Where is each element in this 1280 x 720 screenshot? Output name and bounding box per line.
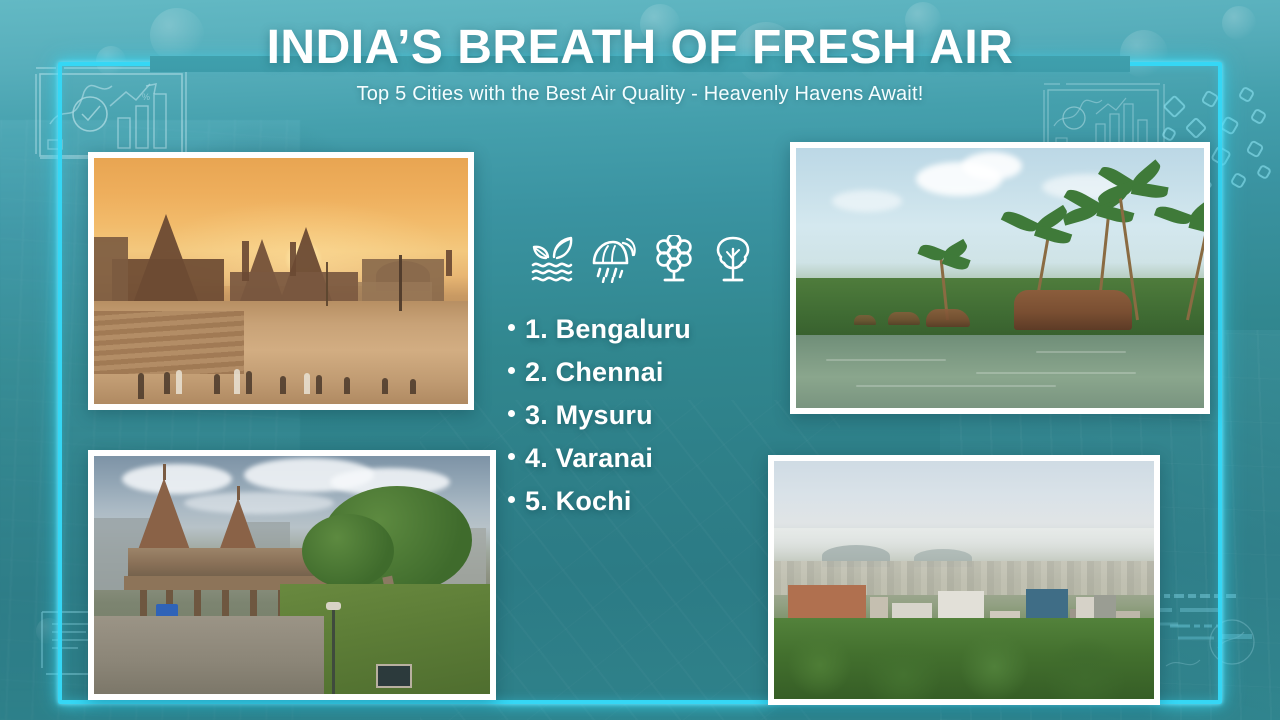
photo-image	[774, 461, 1154, 699]
city-list: 1. Bengaluru 2. Chennai 3. Mysuru 4. Var…	[508, 314, 778, 517]
page-subtitle: Top 5 Cities with the Best Air Quality -…	[0, 83, 1280, 106]
bullet-icon	[508, 410, 515, 417]
tree-icon	[712, 235, 754, 288]
hud-panel-bottomright	[1160, 608, 1278, 682]
photo-varanasi-ghats	[88, 152, 474, 410]
neon-frame-header-gap	[150, 56, 1130, 72]
bokeh-circle	[1120, 30, 1168, 78]
photo-frame	[94, 456, 490, 694]
deco-diamond	[1162, 94, 1186, 118]
photo-city-skyline	[768, 455, 1160, 705]
eco-icon-row	[508, 232, 778, 288]
bokeh-circle	[905, 2, 941, 38]
bokeh-circle	[640, 4, 680, 44]
bullet-icon	[508, 453, 515, 460]
bokeh-circle	[96, 46, 126, 76]
photo-kerala-backwaters	[790, 142, 1210, 414]
bokeh-circle	[1222, 6, 1256, 40]
deco-hexagon	[1200, 89, 1219, 108]
flower-icon	[652, 235, 696, 288]
bokeh-circle	[150, 8, 204, 62]
photo-image	[94, 456, 490, 694]
bokeh-circle	[36, 618, 62, 644]
photo-temple-complex	[88, 450, 496, 700]
list-item-city-4: 4. Varanai	[508, 443, 778, 474]
bokeh-circle	[735, 22, 797, 84]
page-title: INDIA’S BREATH OF FRESH AIR	[0, 22, 1280, 74]
list-item-city-5: 5. Kochi	[508, 486, 778, 517]
center-content: 1. Bengaluru 2. Chennai 3. Mysuru 4. Var…	[508, 232, 778, 529]
bullet-icon	[508, 367, 515, 374]
city-label: 4. Varanai	[525, 443, 653, 474]
photo-frame	[796, 148, 1204, 408]
city-label: 2. Chennai	[525, 357, 664, 388]
deco-hexagon	[1250, 108, 1268, 126]
deco-hexagon	[1161, 126, 1177, 142]
leaf-water-icon	[530, 235, 574, 288]
deco-hexagon	[1256, 164, 1272, 180]
header: INDIA’S BREATH OF FRESH AIR Top 5 Cities…	[0, 22, 1280, 106]
photo-image	[796, 148, 1204, 408]
sign-board	[376, 664, 412, 688]
city-label: 1. Bengaluru	[525, 314, 691, 345]
deco-hexagon	[1245, 139, 1264, 158]
bullet-icon	[508, 496, 515, 503]
deco-hexagon	[1210, 145, 1232, 167]
list-item-city-2: 2. Chennai	[508, 357, 778, 388]
svg-text:%: %	[142, 92, 150, 102]
photo-frame	[774, 461, 1154, 699]
lamp-head	[326, 602, 341, 610]
photo-image	[94, 158, 468, 404]
bullet-icon	[508, 324, 515, 331]
deco-diamond	[1185, 117, 1208, 140]
list-item-city-3: 3. Mysuru	[508, 400, 778, 431]
photo-frame	[94, 158, 468, 404]
deco-hexagon	[1238, 86, 1256, 104]
deco-hexagon	[1230, 172, 1248, 190]
rain-cloud-icon	[590, 235, 636, 288]
infographic-slide: %	[0, 0, 1280, 720]
deco-hexagon	[1219, 115, 1239, 135]
list-item-city-1: 1. Bengaluru	[508, 314, 778, 345]
city-label: 3. Mysuru	[525, 400, 653, 431]
hud-chart-panel-topleft: %	[26, 62, 191, 162]
city-label: 5. Kochi	[525, 486, 632, 517]
